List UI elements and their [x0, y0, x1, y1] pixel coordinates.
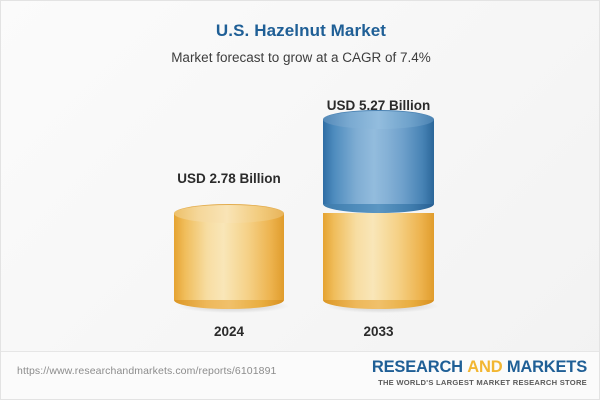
brand-logo[interactable]: RESEARCH AND MARKETS THE WORLD'S LARGEST…: [372, 359, 587, 387]
bar-2024-base-segment[interactable]: [174, 204, 284, 309]
chart-plot-area: USD 2.78 Billion 2024 USD 5.27 Billion: [1, 1, 600, 353]
cylinder-top-ellipse: [323, 110, 434, 129]
brand-word-and: AND: [467, 358, 502, 376]
cylinder-body: [323, 213, 434, 300]
cylinder-body: [323, 119, 434, 204]
bar-2033-growth-segment[interactable]: [323, 110, 434, 213]
infographic-card: U.S. Hazelnut Market Market forecast to …: [0, 0, 600, 400]
cylinder-top-ellipse: [174, 204, 284, 223]
brand-word-research: RESEARCH: [372, 358, 463, 376]
cylinder-body: [174, 213, 284, 300]
bar-category-label-2033: 2033: [363, 324, 393, 339]
bar-value-label-2024: USD 2.78 Billion: [177, 171, 281, 186]
bar-2033-base-segment[interactable]: [323, 204, 434, 309]
footer-bar: https://www.researchandmarkets.com/repor…: [1, 351, 600, 399]
brand-word-markets: MARKETS: [507, 358, 587, 376]
source-url[interactable]: https://www.researchandmarkets.com/repor…: [17, 365, 276, 377]
bar-category-label-2024: 2024: [214, 324, 244, 339]
brand-logo-wordmark: RESEARCH AND MARKETS: [372, 359, 587, 376]
brand-tagline: THE WORLD'S LARGEST MARKET RESEARCH STOR…: [372, 378, 587, 387]
